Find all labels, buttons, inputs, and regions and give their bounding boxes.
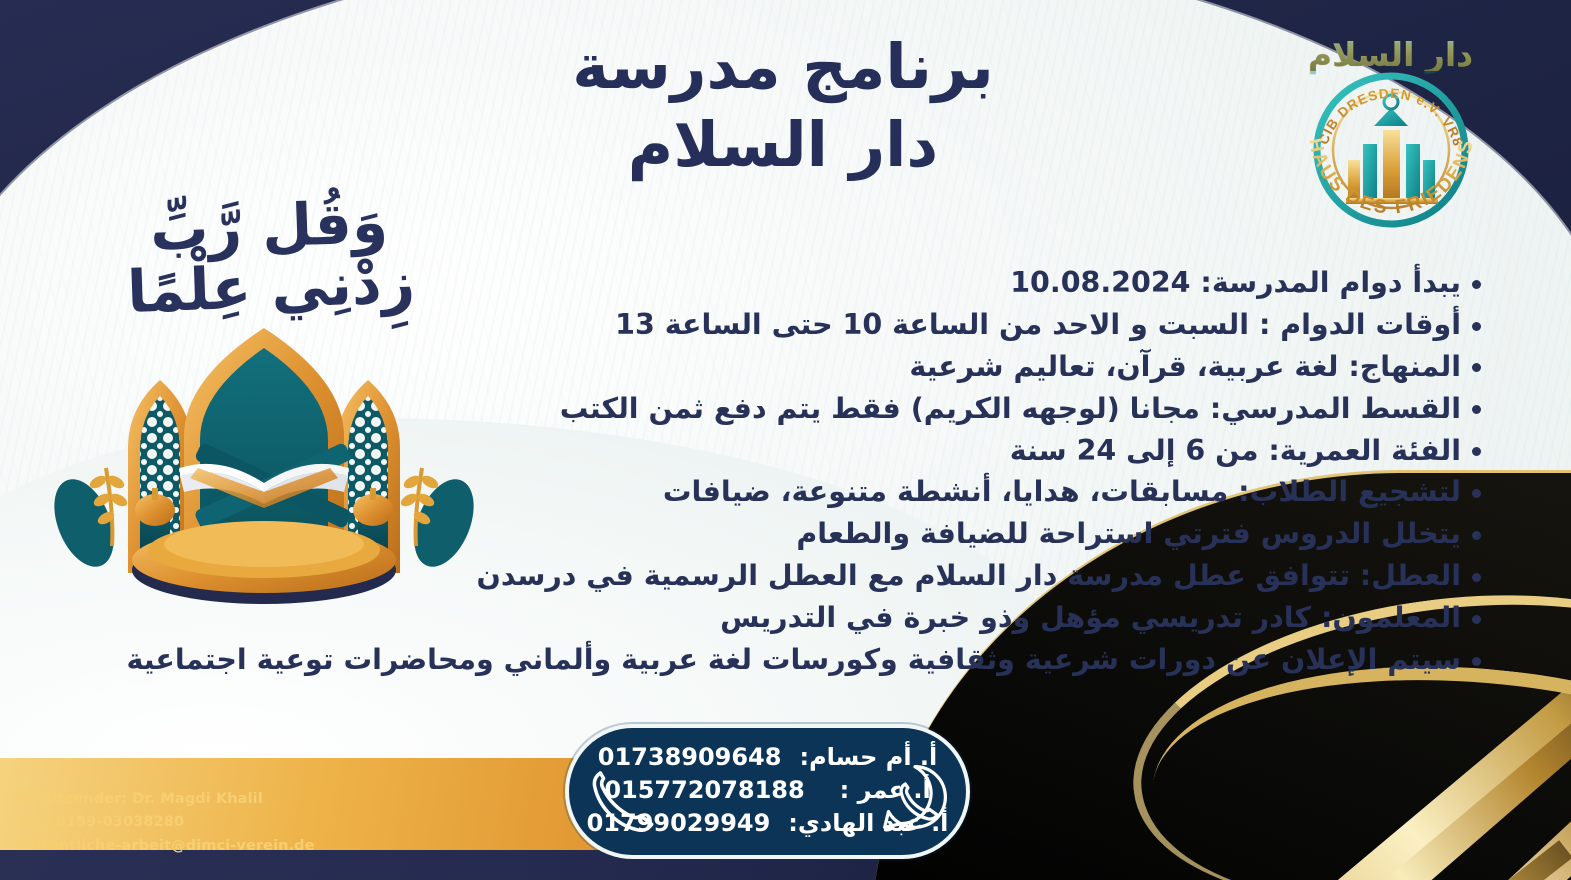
footer-email[interactable]: oeffentliche-arbeit@dimci-verein.de: [16, 835, 315, 858]
footer-contact-info: Vorsitzender: Dr. Magdi Khalil Tel.: 015…: [16, 788, 315, 858]
leaf-decoration-left: [48, 468, 129, 575]
program-details-list: يبدأ دوام المدرسة: 10.08.2024 أوقات الدو…: [145, 262, 1485, 681]
poster-root: برنامج مدرسة دار السلام: [0, 0, 1571, 880]
contact-box[interactable]: أ. أم حسام: 01738909648 أ. عمر : 0157720…: [565, 724, 970, 859]
whatsapp-icon[interactable]: [876, 758, 954, 836]
list-item: يبدأ دوام المدرسة: 10.08.2024: [145, 262, 1485, 304]
list-item: العطل: تتوافق عطل مدرسة دار السلام مع ال…: [145, 555, 1485, 597]
list-item: المنهاج: لغة عربية، قرآن، تعاليم شرعية: [145, 346, 1485, 388]
organization-logo: DIMCIB DRESDEN e.V. VR8989 HAUS DES FRIE…: [1288, 22, 1493, 237]
footer-chairman: Vorsitzender: Dr. Magdi Khalil: [16, 788, 315, 811]
list-item: يتخلل الدروس فترتي استراحة للضيافة والطع…: [145, 513, 1485, 555]
title-line-1: برنامج مدرسة: [553, 28, 1013, 106]
footer-tel: Tel.: 0159-03038280: [16, 811, 315, 834]
logo-arabic-name: دار السلام: [1288, 38, 1493, 71]
list-item: الفئة العمرية: من 6 إلى 24 سنة: [145, 430, 1485, 472]
mosque-emblem-icon: [1346, 95, 1438, 204]
list-item: المعلمون: كادر تدريسي مؤهل وذو خبرة في ا…: [145, 597, 1485, 639]
list-item: لتشجيع الطلاب: مسابقات، هدايا، أنشطة متن…: [145, 471, 1485, 513]
list-item: أوقات الدوام : السبت و الاحد من الساعة 1…: [145, 304, 1485, 346]
title-line-2: دار السلام: [553, 106, 1013, 184]
page-title: برنامج مدرسة دار السلام: [553, 28, 1013, 183]
list-item: القسط المدرسي: مجانا (لوجهه الكريم) فقط …: [145, 388, 1485, 430]
list-item: سيتم الإعلان عن دورات شرعية وثقافية وكور…: [145, 639, 1485, 681]
phone-icon: [585, 762, 655, 832]
